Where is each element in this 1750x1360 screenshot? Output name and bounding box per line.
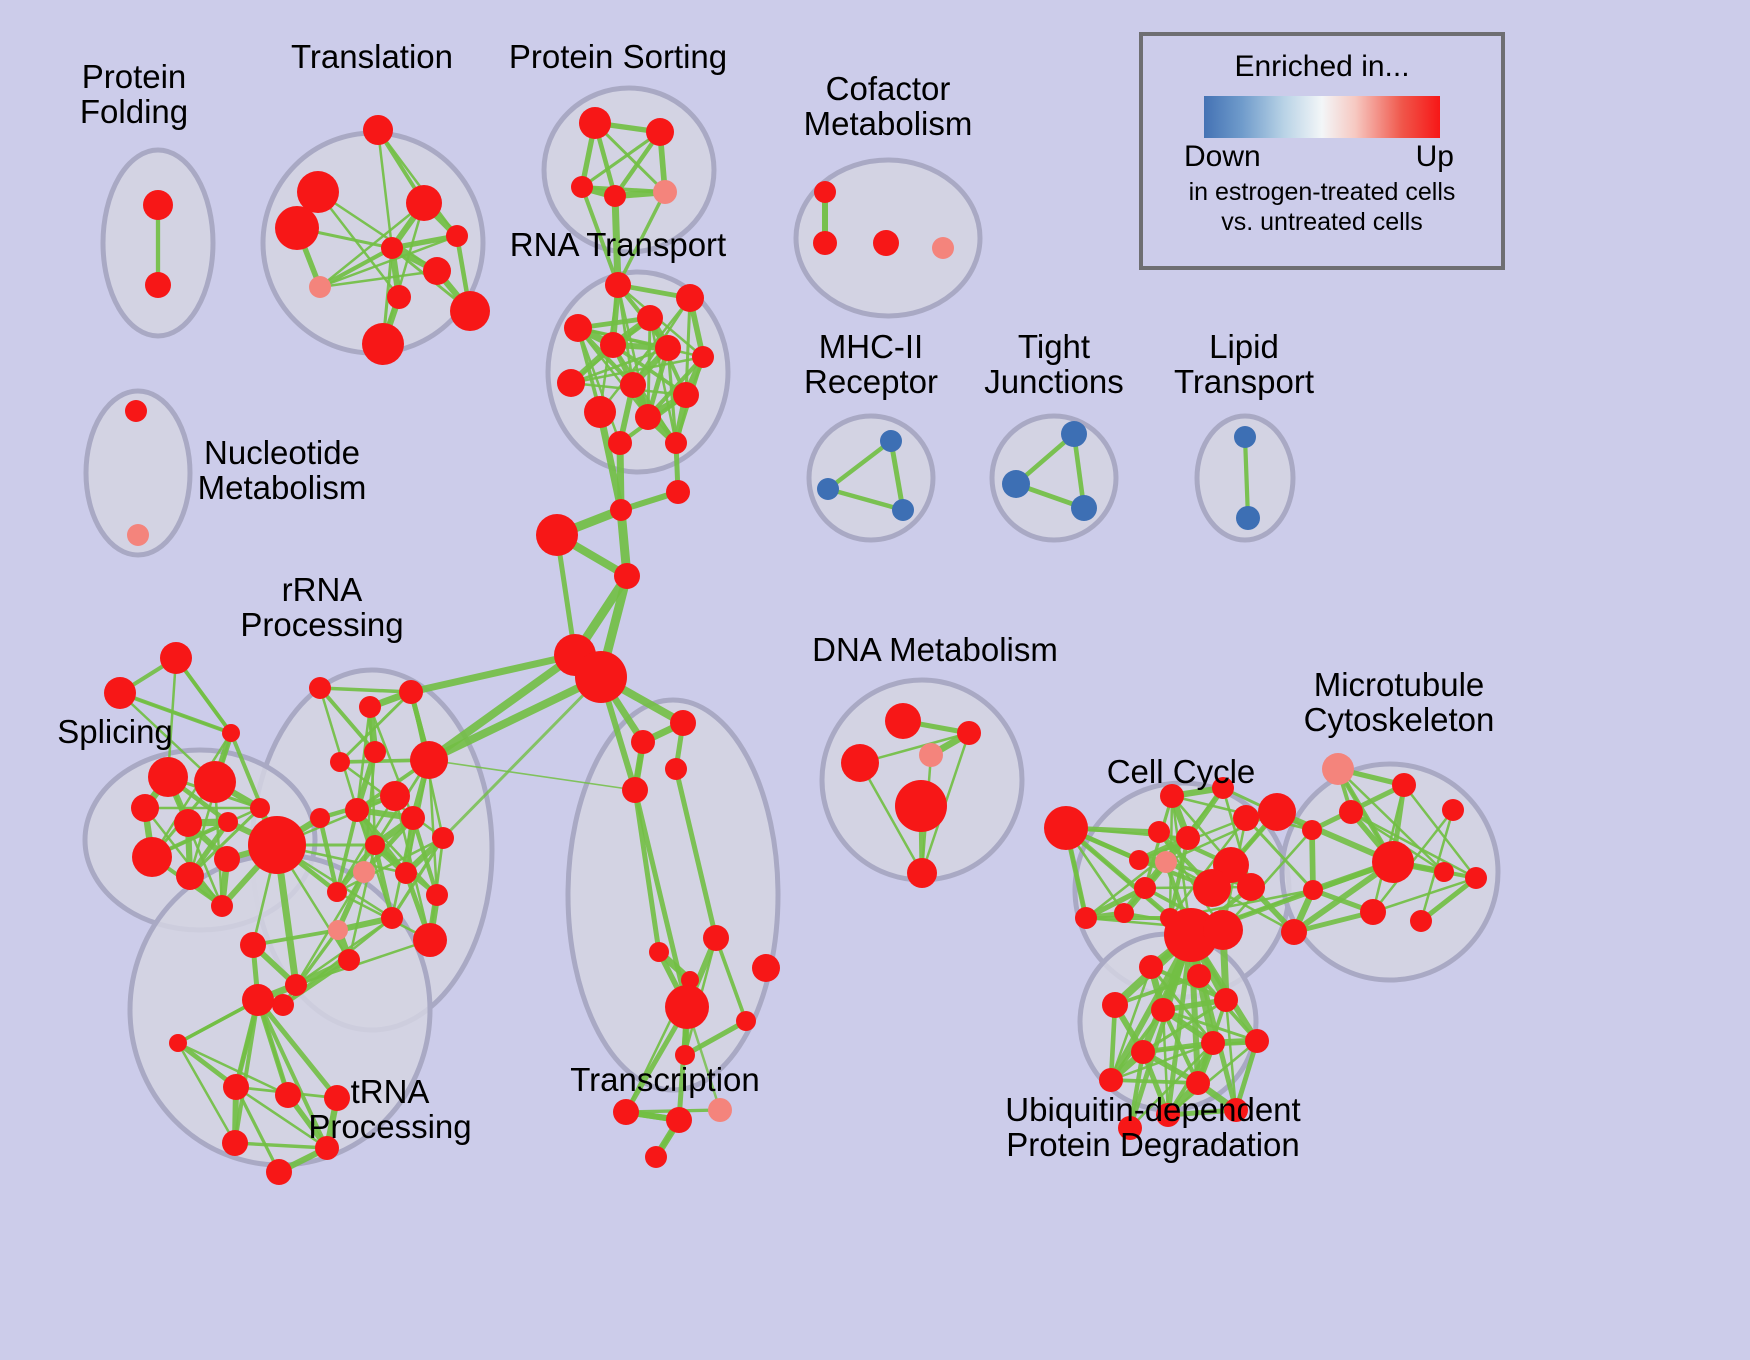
network-node[interactable] [359,696,381,718]
network-node[interactable] [673,382,699,408]
network-node[interactable] [614,563,640,589]
legend-panel: Enriched in... Down Up in estrogen-treat… [1139,32,1505,270]
network-edge [615,196,618,285]
network-node[interactable] [1233,805,1259,831]
network-node[interactable] [613,1099,639,1125]
network-node[interactable] [1118,1116,1142,1140]
network-node[interactable] [395,862,417,884]
network-node[interactable] [1156,1103,1180,1127]
network-node[interactable] [1212,777,1234,799]
network-node[interactable] [1372,841,1414,883]
network-node[interactable] [309,677,331,699]
network-node[interactable] [670,710,696,736]
network-node[interactable] [536,514,578,556]
network-node[interactable] [873,230,899,256]
network-node[interactable] [1465,867,1487,889]
network-node[interactable] [145,272,171,298]
network-edge [1245,437,1248,518]
network-node[interactable] [381,907,403,929]
network-node[interactable] [1322,753,1354,785]
network-node[interactable] [919,743,943,767]
network-node[interactable] [692,346,714,368]
network-node[interactable] [272,994,294,1016]
network-node[interactable] [285,974,307,996]
network-node[interactable] [310,808,330,828]
network-node[interactable] [1442,799,1464,821]
network-node[interactable] [703,925,729,951]
network-node[interactable] [450,291,490,331]
network-node[interactable] [353,861,375,883]
network-node[interactable] [1258,793,1296,831]
network-node[interactable] [1044,806,1088,850]
network-node[interactable] [446,225,468,247]
network-node[interactable] [1176,826,1200,850]
network-node[interactable] [645,1146,667,1168]
network-node[interactable] [328,920,348,940]
network-node[interactable] [1134,877,1156,899]
network-node[interactable] [1224,1098,1248,1122]
network-node[interactable] [401,806,425,830]
network-node[interactable] [214,846,240,872]
network-node[interactable] [637,305,663,331]
network-node[interactable] [736,1011,756,1031]
network-node[interactable] [1302,820,1322,840]
network-node[interactable] [752,954,780,982]
network-node[interactable] [250,798,270,818]
network-node[interactable] [608,431,632,455]
network-node[interactable] [387,285,411,309]
network-node[interactable] [218,812,238,832]
network-node[interactable] [242,984,274,1016]
network-node[interactable] [131,794,159,822]
network-node[interactable] [1339,800,1363,824]
network-node[interactable] [275,206,319,250]
legend-endpoints: Down Up [1184,140,1460,178]
network-node[interactable] [275,1082,301,1108]
network-node[interactable] [892,499,914,521]
network-node[interactable] [957,721,981,745]
network-node[interactable] [895,780,947,832]
network-node[interactable] [127,524,149,546]
network-node[interactable] [222,724,240,742]
legend-subtitle-line2: vs. untreated cells [1143,208,1501,238]
network-node[interactable] [600,332,626,358]
network-node[interactable] [676,284,704,312]
network-node[interactable] [579,107,611,139]
network-node[interactable] [1237,873,1265,901]
network-node[interactable] [1061,421,1087,447]
network-node[interactable] [653,180,677,204]
cluster-hull-protein-sorting [544,88,714,252]
network-node[interactable] [223,1074,249,1100]
network-node[interactable] [665,758,687,780]
network-node[interactable] [907,858,937,888]
network-node[interactable] [413,923,447,957]
network-node[interactable] [622,777,648,803]
network-node[interactable] [406,185,442,221]
network-node[interactable] [363,115,393,145]
network-node[interactable] [1186,1071,1210,1095]
network-node[interactable] [1201,1031,1225,1055]
network-node[interactable] [666,480,690,504]
network-node[interactable] [132,837,172,877]
network-node[interactable] [666,1107,692,1133]
enrichment-map-figure: Protein FoldingTranslationProtein Sortin… [0,0,1750,1360]
network-node[interactable] [605,272,631,298]
network-node[interactable] [410,741,448,779]
network-node[interactable] [211,895,233,917]
network-node[interactable] [160,642,192,674]
network-node[interactable] [1160,784,1184,808]
network-node[interactable] [610,499,632,521]
network-node[interactable] [1234,426,1256,448]
network-node[interactable] [646,118,674,146]
network-node[interactable] [1099,1068,1123,1092]
legend-color-gradient [1204,96,1440,138]
network-node[interactable] [557,369,585,397]
network-node[interactable] [169,1034,187,1052]
network-node[interactable] [575,651,627,703]
network-node[interactable] [1114,903,1134,923]
network-node[interactable] [176,862,204,890]
legend-subtitle-line1: in estrogen-treated cells [1143,178,1501,208]
network-node[interactable] [330,752,350,772]
network-node[interactable] [584,396,616,428]
network-node[interactable] [665,985,709,1029]
network-node[interactable] [381,237,403,259]
network-node[interactable] [1071,495,1097,521]
network-node[interactable] [364,741,386,763]
network-node[interactable] [564,314,592,342]
network-node[interactable] [104,677,136,709]
network-node[interactable] [1360,899,1386,925]
network-node[interactable] [1236,506,1260,530]
network-node[interactable] [297,171,339,213]
network-node[interactable] [1214,988,1238,1012]
network-node[interactable] [309,276,331,298]
network-node[interactable] [266,1159,292,1185]
network-node[interactable] [604,185,626,207]
network-node[interactable] [1410,910,1432,932]
network-node[interactable] [125,400,147,422]
network-node[interactable] [1075,907,1097,929]
network-node[interactable] [399,680,423,704]
network-node[interactable] [148,757,188,797]
network-node[interactable] [1002,470,1030,498]
network-node[interactable] [708,1098,732,1122]
network-node[interactable] [240,932,266,958]
network-node[interactable] [338,949,360,971]
network-node[interactable] [1281,919,1307,945]
network-node[interactable] [1131,1040,1155,1064]
network-node[interactable] [1245,1029,1269,1053]
network-node[interactable] [885,703,921,739]
network-node[interactable] [932,237,954,259]
network-node[interactable] [1139,955,1163,979]
network-node[interactable] [880,430,902,452]
network-node[interactable] [222,1130,248,1156]
network-node[interactable] [426,884,448,906]
network-node[interactable] [1392,773,1416,797]
network-node[interactable] [174,809,202,837]
network-node[interactable] [423,257,451,285]
network-node[interactable] [1193,869,1231,907]
network-node[interactable] [345,798,369,822]
network-node[interactable] [1203,910,1243,950]
network-node[interactable] [631,730,655,754]
legend-down-label: Down [1184,140,1261,174]
network-node[interactable] [248,816,306,874]
network-node[interactable] [143,190,173,220]
network-node[interactable] [1102,992,1128,1018]
network-node[interactable] [814,181,836,203]
network-node[interactable] [327,882,347,902]
network-node[interactable] [365,835,385,855]
legend-title: Enriched in... [1143,50,1501,84]
network-node[interactable] [649,942,669,962]
network-node[interactable] [1303,880,1323,900]
network-node[interactable] [1148,821,1170,843]
network-node[interactable] [1434,862,1454,882]
network-node[interactable] [817,478,839,500]
network-node[interactable] [675,1045,695,1065]
network-node[interactable] [571,176,593,198]
network-node[interactable] [635,404,661,430]
network-node[interactable] [324,1085,350,1111]
cluster-hull-mhc-ii-receptor [809,416,933,540]
network-node[interactable] [1155,851,1177,873]
network-node[interactable] [1187,964,1211,988]
network-node[interactable] [315,1136,339,1160]
network-node[interactable] [1129,850,1149,870]
network-node[interactable] [655,335,681,361]
network-node[interactable] [380,781,410,811]
network-node[interactable] [620,372,646,398]
network-node[interactable] [432,827,454,849]
legend-up-label: Up [1416,140,1454,174]
network-node[interactable] [665,432,687,454]
network-node[interactable] [841,744,879,782]
network-node[interactable] [194,761,236,803]
network-node[interactable] [813,231,837,255]
network-node[interactable] [1151,998,1175,1022]
network-node[interactable] [362,323,404,365]
